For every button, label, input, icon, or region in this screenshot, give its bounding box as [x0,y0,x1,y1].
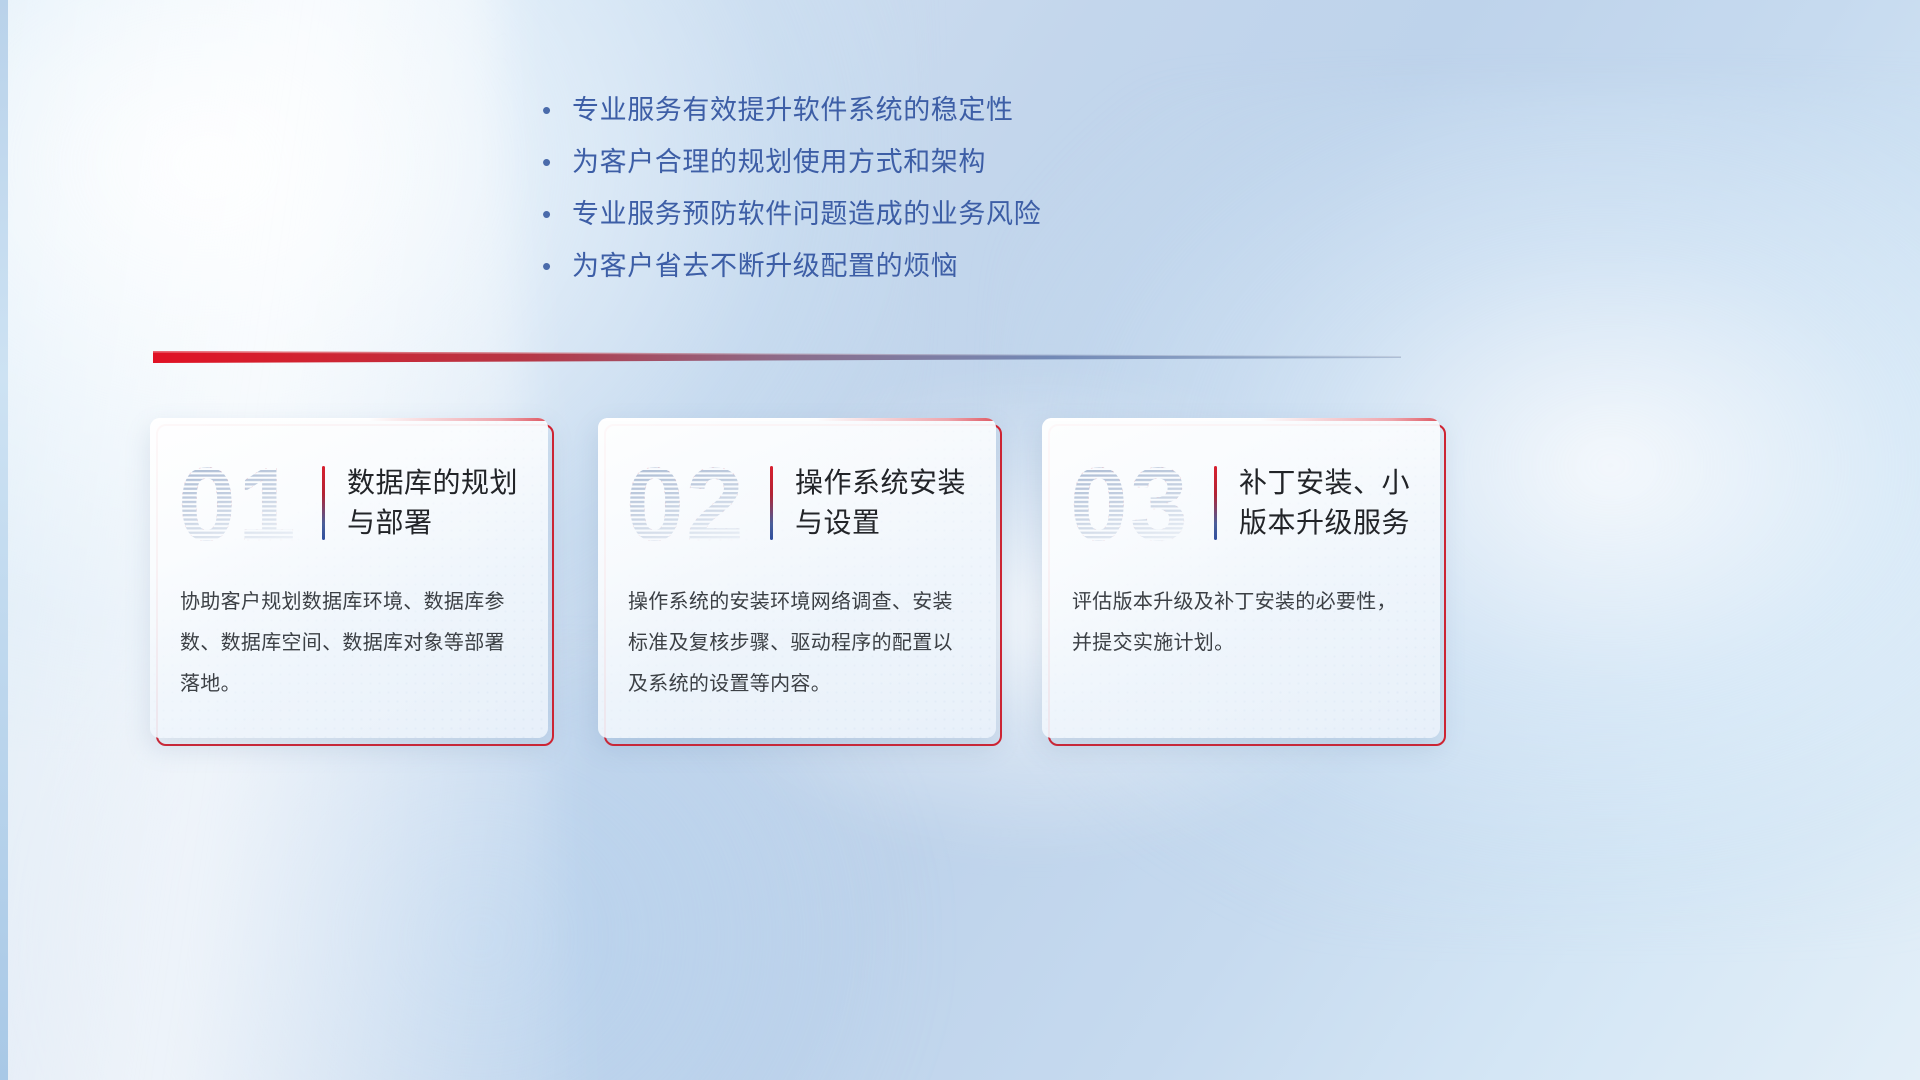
service-card-02[interactable]: 02 02 操作系统安装与设置 操作系统的安装环境网络调查、安装标准及复核步骤、… [598,418,998,744]
bullet-dot-icon: • [536,197,572,231]
bullet-dot-icon: • [536,93,572,127]
svg-text:01: 01 [178,448,298,558]
bullet-dot-icon: • [536,249,572,283]
service-card-01[interactable]: 01 01 数据库的规划与部署 协助客户规划数据库环境、数据库参数、数据库空间、… [150,418,550,744]
bullet-dot-icon: • [536,145,572,179]
list-item: • 为客户合理的规划使用方式和架构 [536,145,1276,197]
bullet-text: 为客户合理的规划使用方式和架构 [572,145,986,179]
card-title: 数据库的规划与部署 [347,463,537,543]
card-divider-bar [770,466,773,540]
benefits-bullet-list: • 专业服务有效提升软件系统的稳定性 • 为客户合理的规划使用方式和架构 • 专… [536,93,1276,301]
card-header: 03 03 补丁安装、小版本升级服务 [1042,440,1440,566]
card-description: 评估版本升级及补丁安装的必要性，并提交实施计划。 [1072,582,1416,664]
card-title: 操作系统安装与设置 [795,463,985,543]
bullet-text: 专业服务预防软件问题造成的业务风险 [572,197,1041,231]
card-surface: 02 02 操作系统安装与设置 操作系统的安装环境网络调查、安装标准及复核步骤、… [598,418,996,738]
card-surface: 01 01 数据库的规划与部署 协助客户规划数据库环境、数据库参数、数据库空间、… [150,418,548,738]
service-cards-row: 01 01 数据库的规划与部署 协助客户规划数据库环境、数据库参数、数据库空间、… [150,418,1470,748]
section-divider [153,344,1401,368]
bullet-text: 为客户省去不断升级配置的烦恼 [572,249,958,283]
card-number-graphic: 02 02 [624,448,766,558]
list-item: • 专业服务预防软件问题造成的业务风险 [536,197,1276,249]
card-title: 补丁安装、小版本升级服务 [1239,463,1429,543]
bullet-text: 专业服务有效提升软件系统的稳定性 [572,93,1014,127]
card-number-graphic: 01 01 [176,448,318,558]
service-card-03[interactable]: 03 03 补丁安装、小版本升级服务 评估版本升级及补丁安装的必要性，并提交实施… [1042,418,1442,744]
card-header: 01 01 数据库的规划与部署 [150,440,548,566]
card-divider-bar [1214,466,1217,540]
svg-text:03: 03 [1070,448,1190,558]
list-item: • 为客户省去不断升级配置的烦恼 [536,249,1276,301]
card-description: 协助客户规划数据库环境、数据库参数、数据库空间、数据库对象等部署落地。 [180,582,524,705]
list-item: • 专业服务有效提升软件系统的稳定性 [536,93,1276,145]
card-description: 操作系统的安装环境网络调查、安装标准及复核步骤、驱动程序的配置以及系统的设置等内… [628,582,972,705]
svg-text:02: 02 [626,448,746,558]
card-number-graphic: 03 03 [1068,448,1210,558]
background-left-edge-strip [0,0,8,1080]
card-header: 02 02 操作系统安装与设置 [598,440,996,566]
card-divider-bar [322,466,325,540]
card-surface: 03 03 补丁安装、小版本升级服务 评估版本升级及补丁安装的必要性，并提交实施… [1042,418,1440,738]
